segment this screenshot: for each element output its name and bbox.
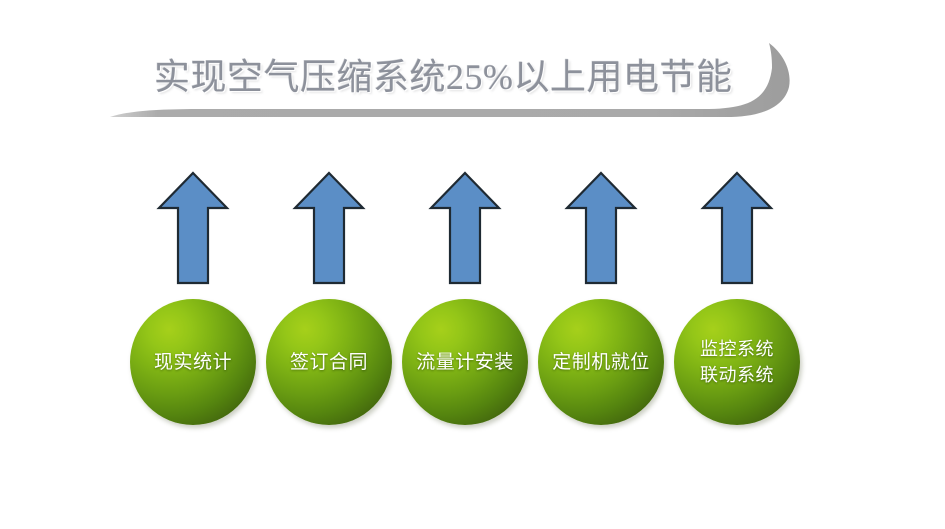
title-banner: 实现空气压缩系统25%以上用电节能 [108,38,808,124]
arrow-up-icon [700,170,774,286]
arrow-up-icon [156,170,230,286]
arrow-up-icon [564,170,638,286]
process-node-label: 监控系统 联动系统 [696,336,778,388]
slide-canvas: 实现空气压缩系统25%以上用电节能 现实统计 签订合同 流量计安装 [0,0,945,529]
arrow-up-icon [428,170,502,286]
arrow-up-4 [564,170,638,286]
arrow-up-3 [428,170,502,286]
arrow-up-1 [156,170,230,286]
process-node-3[interactable]: 流量计安装 [402,299,528,425]
process-node-label: 定制机就位 [548,350,654,375]
arrow-up-2 [292,170,366,286]
process-node-1[interactable]: 现实统计 [130,299,256,425]
process-node-label: 签订合同 [286,350,372,375]
page-title: 实现空气压缩系统25%以上用电节能 [154,49,774,105]
process-node-2[interactable]: 签订合同 [266,299,392,425]
process-node-5[interactable]: 监控系统 联动系统 [674,299,800,425]
process-node-label: 现实统计 [150,350,236,375]
arrow-up-icon [292,170,366,286]
process-node-4[interactable]: 定制机就位 [538,299,664,425]
arrow-up-5 [700,170,774,286]
process-node-label: 流量计安装 [412,350,518,375]
